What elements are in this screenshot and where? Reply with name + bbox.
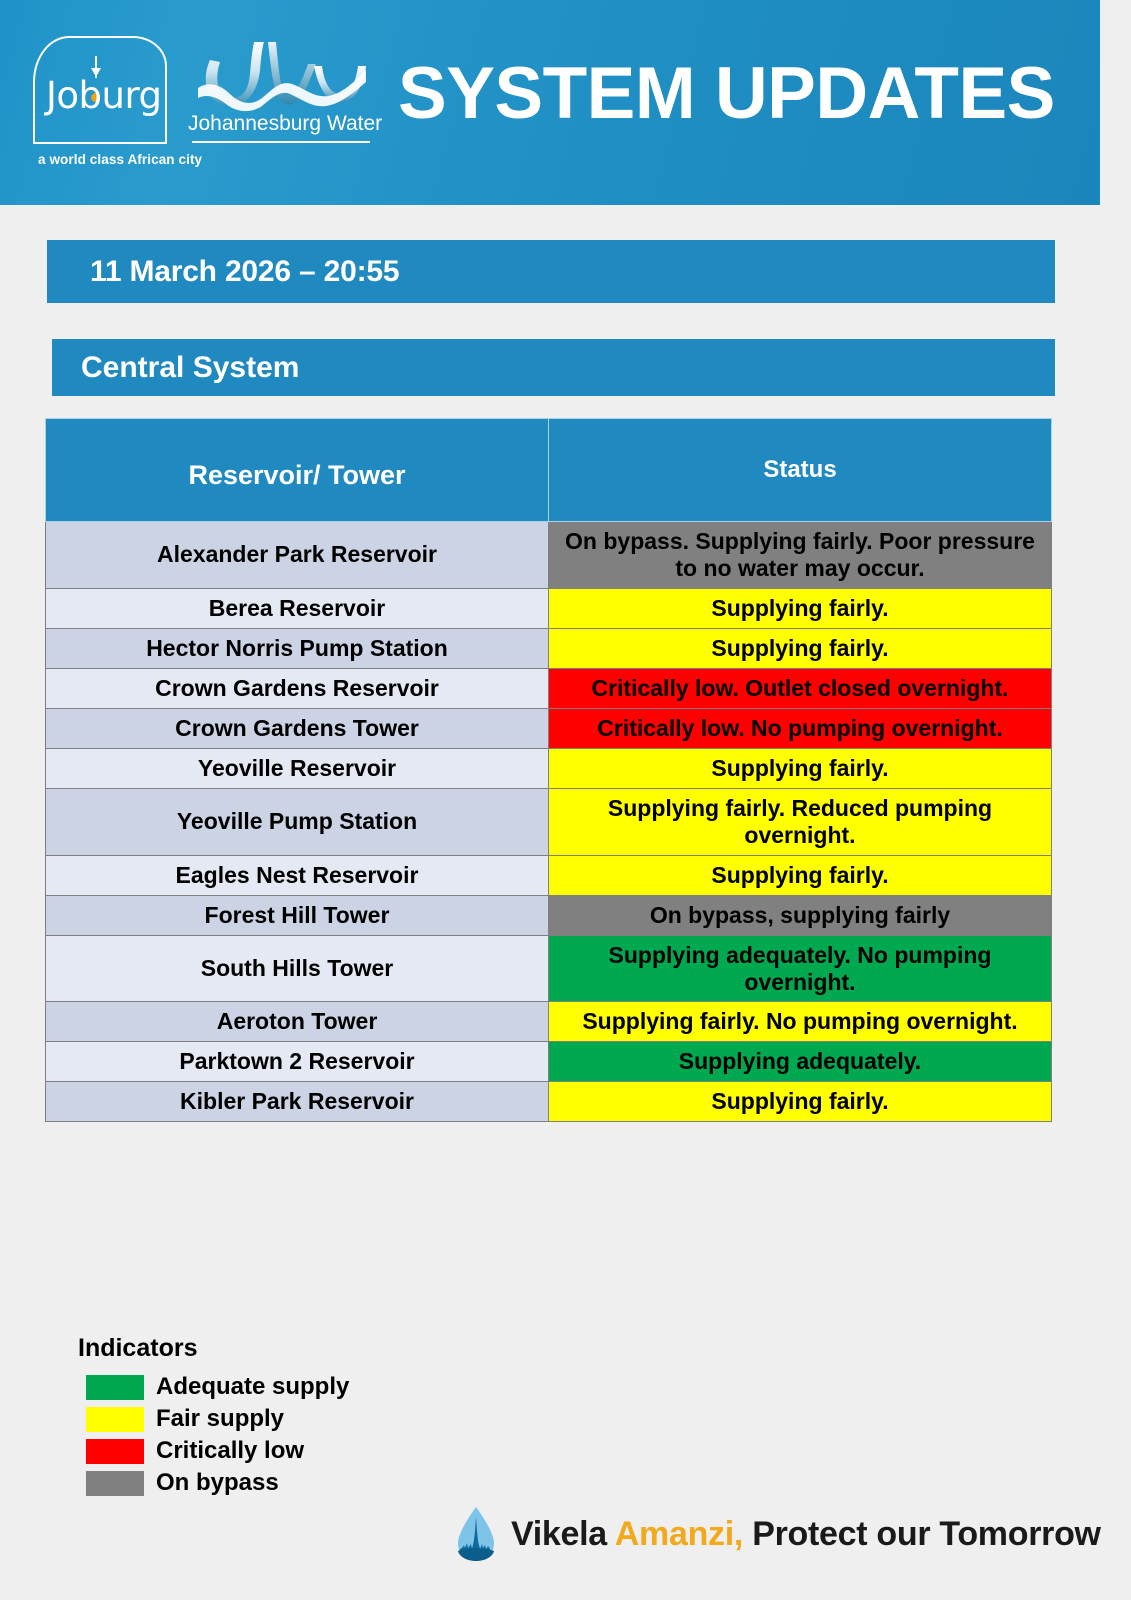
date-bar: 11 March 2026 – 20:55 — [47, 240, 1055, 303]
jw-logo-underline — [192, 141, 370, 143]
indicators-title: Indicators — [78, 1334, 498, 1363]
indicator-item: Critically low — [78, 1435, 498, 1467]
column-header-reservoir: Reservoir/ Tower — [46, 419, 549, 522]
indicator-label: Fair supply — [156, 1405, 284, 1433]
indicator-label: On bypass — [156, 1469, 279, 1497]
cell-reservoir-name: Forest Hill Tower — [46, 895, 549, 935]
system-updates-page: Joburg a world class African city — [0, 0, 1131, 1600]
cell-status: On bypass. Supplying fairly. Poor pressu… — [549, 522, 1052, 589]
table-row: Alexander Park ReservoirOn bypass. Suppl… — [46, 522, 1052, 589]
cell-status: Supplying fairly. — [549, 855, 1052, 895]
cell-status: On bypass, supplying fairly — [549, 895, 1052, 935]
column-header-status: Status — [549, 419, 1052, 522]
section-title: Central System — [81, 351, 299, 385]
footer-text-part2: Amanzi, — [615, 1515, 743, 1553]
cell-reservoir-name: Berea Reservoir — [46, 588, 549, 628]
date-text: 11 March 2026 – 20:55 — [90, 255, 399, 289]
indicator-item: Adequate supply — [78, 1371, 498, 1403]
cell-reservoir-name: Hector Norris Pump Station — [46, 628, 549, 668]
table-header-row: Reservoir/ Tower Status — [46, 419, 1052, 522]
page-header: Joburg a world class African city — [0, 0, 1100, 205]
table-row: Crown Gardens TowerCritically low. No pu… — [46, 708, 1052, 748]
cell-reservoir-name: Crown Gardens Reservoir — [46, 668, 549, 708]
section-header: Central System — [52, 339, 1055, 396]
table-row: Hector Norris Pump StationSupplying fair… — [46, 628, 1052, 668]
indicators-legend: Indicators Adequate supplyFair supplyCri… — [78, 1334, 498, 1499]
cell-status: Critically low. Outlet closed overnight. — [549, 668, 1052, 708]
cell-reservoir-name: Eagles Nest Reservoir — [46, 855, 549, 895]
indicator-label: Critically low — [156, 1437, 304, 1465]
reservoir-status-table: Reservoir/ Tower Status Alexander Park R… — [45, 418, 1052, 1122]
table-row: Parktown 2 ReservoirSupplying adequately… — [46, 1042, 1052, 1082]
johannesburg-water-logo: Johannesburg Water — [188, 36, 374, 156]
indicator-swatch — [86, 1375, 144, 1400]
cell-reservoir-name: Crown Gardens Tower — [46, 708, 549, 748]
table-row: Eagles Nest ReservoirSupplying fairly. — [46, 855, 1052, 895]
cell-status: Supplying fairly. — [549, 588, 1052, 628]
indicator-swatch — [86, 1471, 144, 1496]
indicator-swatch — [86, 1407, 144, 1432]
table-row: Kibler Park ReservoirSupplying fairly. — [46, 1082, 1052, 1122]
table-row: Forest Hill TowerOn bypass, supplying fa… — [46, 895, 1052, 935]
table-body: Alexander Park ReservoirOn bypass. Suppl… — [46, 522, 1052, 1122]
cell-reservoir-name: Yeoville Reservoir — [46, 748, 549, 788]
footer-text-part1: Vikela — [511, 1515, 615, 1553]
cell-status: Supplying adequately. — [549, 1042, 1052, 1082]
table-row: Yeoville Pump StationSupplying fairly. R… — [46, 788, 1052, 855]
cell-status: Supplying fairly. No pumping overnight. — [549, 1002, 1052, 1042]
page-title: SYSTEM UPDATES — [398, 52, 1055, 135]
table-row: Berea ReservoirSupplying fairly. — [46, 588, 1052, 628]
cell-reservoir-name: Kibler Park Reservoir — [46, 1082, 549, 1122]
indicators-list: Adequate supplyFair supplyCritically low… — [78, 1371, 498, 1499]
table-head: Reservoir/ Tower Status — [46, 419, 1052, 522]
footer-text: Vikela Amanzi, Protect our Tomorrow — [511, 1515, 1101, 1554]
table-row: South Hills TowerSupplying adequately. N… — [46, 935, 1052, 1002]
cell-status: Supplying fairly. Reduced pumping overni… — [549, 788, 1052, 855]
cell-reservoir-name: Yeoville Pump Station — [46, 788, 549, 855]
indicator-item: Fair supply — [78, 1403, 498, 1435]
joburg-logo: Joburg a world class African city — [28, 30, 188, 170]
joburg-wordmark: Joburg — [46, 74, 162, 117]
indicator-item: On bypass — [78, 1467, 498, 1499]
cell-reservoir-name: Alexander Park Reservoir — [46, 522, 549, 589]
table-row: Yeoville ReservoirSupplying fairly. — [46, 748, 1052, 788]
cell-status: Supplying adequately. No pumping overnig… — [549, 935, 1052, 1002]
table-row: Crown Gardens ReservoirCritically low. O… — [46, 668, 1052, 708]
cell-status: Supplying fairly. — [549, 628, 1052, 668]
jw-logo-name: Johannesburg Water — [188, 112, 374, 136]
cell-reservoir-name: South Hills Tower — [46, 935, 549, 1002]
indicator-swatch — [86, 1439, 144, 1464]
cell-status: Critically low. No pumping overnight. — [549, 708, 1052, 748]
cell-reservoir-name: Aeroton Tower — [46, 1002, 549, 1042]
water-drop-city-icon — [455, 1505, 497, 1563]
jw-wave-monogram-icon — [196, 36, 368, 114]
table-row: Aeroton TowerSupplying fairly. No pumpin… — [46, 1002, 1052, 1042]
cell-status: Supplying fairly. — [549, 1082, 1052, 1122]
footer-slogan: Vikela Amanzi, Protect our Tomorrow — [455, 1505, 1101, 1563]
cell-reservoir-name: Parktown 2 Reservoir — [46, 1042, 549, 1082]
joburg-tagline: a world class African city — [38, 152, 202, 167]
footer-text-part3: Protect our Tomorrow — [743, 1515, 1101, 1553]
indicator-label: Adequate supply — [156, 1373, 349, 1401]
cell-status: Supplying fairly. — [549, 748, 1052, 788]
